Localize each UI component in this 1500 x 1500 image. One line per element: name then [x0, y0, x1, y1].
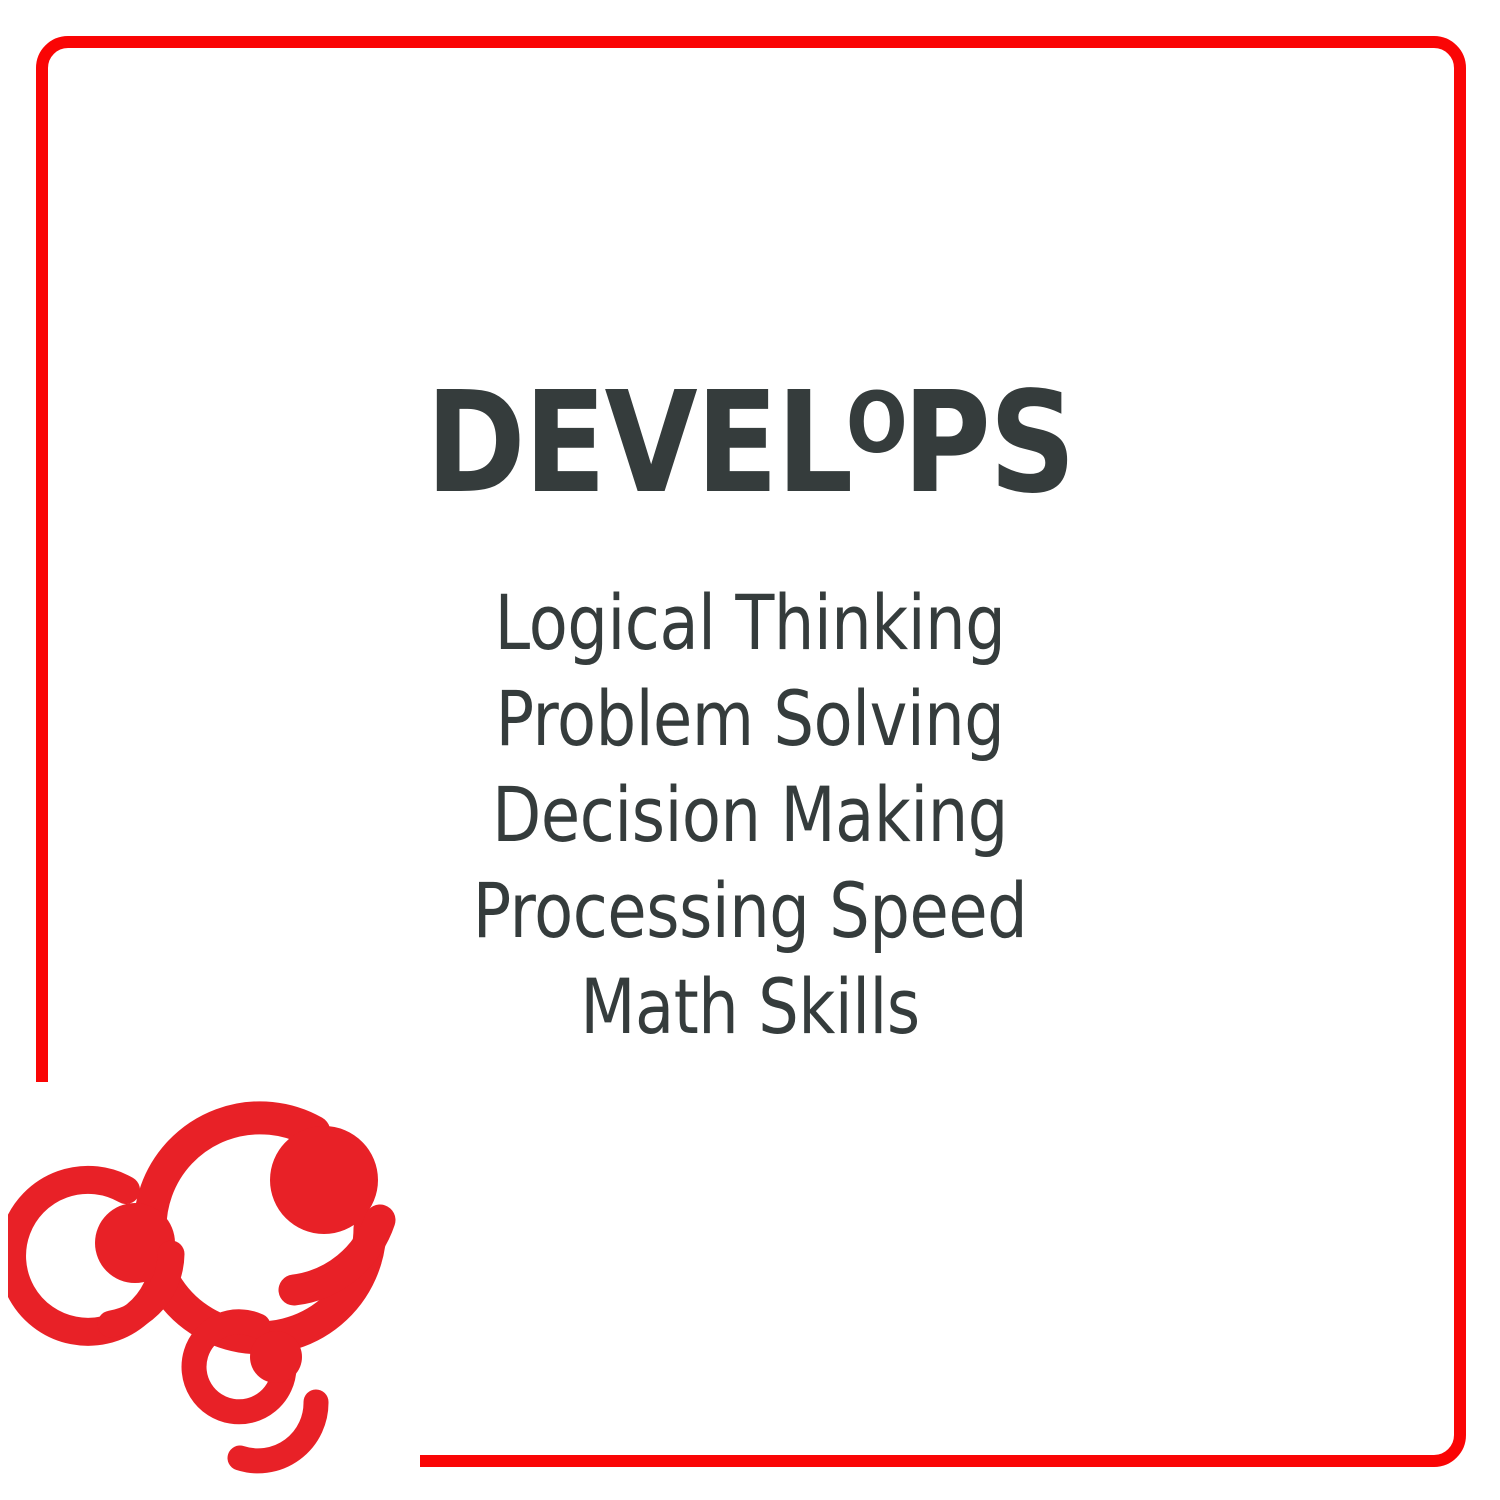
logo-large-dot — [270, 1126, 378, 1234]
title-stylized-o: O — [846, 381, 907, 465]
title-part-after-o: PS — [903, 362, 1075, 525]
skills-list: Logical Thinking Problem Solving Decisio… — [0, 575, 1500, 1055]
title-part-before-o: DEVEL — [426, 362, 852, 525]
skill-item: Processing Speed — [120, 863, 1380, 959]
slide-canvas: DEVELOPS Logical Thinking Problem Solvin… — [0, 0, 1500, 1500]
logo-small-dot — [250, 1331, 302, 1383]
skill-item: Math Skills — [120, 959, 1380, 1055]
page-title: DEVELOPS — [105, 374, 1395, 514]
logo-large-crescent — [150, 1118, 380, 1338]
skill-item: Decision Making — [120, 767, 1380, 863]
skill-item: Logical Thinking — [120, 575, 1380, 671]
brand-logo — [8, 1058, 438, 1488]
skill-item: Problem Solving — [120, 671, 1380, 767]
logo-small-crescent — [194, 1322, 302, 1412]
